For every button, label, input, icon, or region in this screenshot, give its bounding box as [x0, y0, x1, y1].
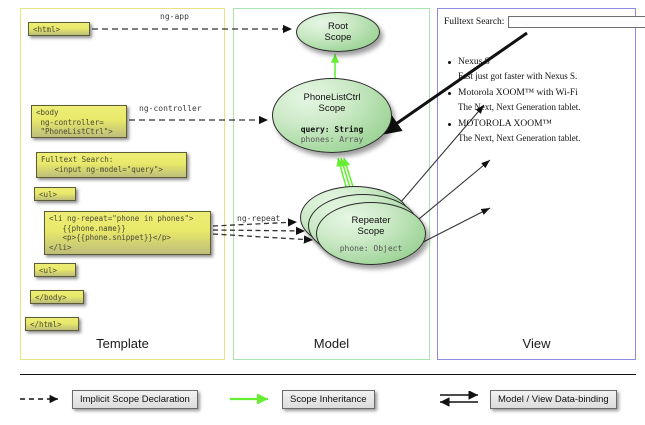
scope-phonelistctrl-title-1: PhoneListCtrl — [273, 92, 391, 103]
view-phone-list: Nexus S Fast just got faster with Nexus … — [444, 55, 632, 145]
list-item-snippet: Fast just got faster with Nexus S. — [444, 69, 632, 83]
panel-template: Template — [20, 8, 225, 360]
code-box-html-close: </html> — [25, 317, 79, 331]
list-item-snippet: The Next, Next Generation tablet. — [444, 100, 632, 114]
code-box-fulltext-input: Fulltext Search: <input ng-model="query"… — [36, 152, 187, 178]
code-box-ul-open: <ul> — [34, 187, 76, 201]
legend-entry-implicit-scope-declaration: Implicit Scope Declaration — [20, 382, 198, 416]
bullet-icon — [448, 61, 451, 64]
panel-view-label: View — [438, 336, 635, 351]
view-search-label: Fulltext Search: — [444, 17, 504, 27]
list-item-snippet: The Next, Next Generation tablet. — [444, 131, 632, 145]
dashed-arrow-icon — [20, 394, 66, 404]
view-search-input[interactable] — [508, 16, 645, 28]
list-item[interactable]: MOTOROLA XOOM™ The Next, Next Generation… — [444, 117, 632, 145]
legend-divider — [20, 374, 636, 375]
view-rendered-output: Fulltext Search: Nexus S Fast just got f… — [444, 16, 632, 148]
scope-phonelistctrl: PhoneListCtrl Scope query: String phones… — [272, 78, 392, 153]
list-item-name-text: MOTOROLA XOOM™ — [458, 119, 552, 129]
view-search-row: Fulltext Search: — [444, 16, 632, 28]
panel-template-label: Template — [21, 336, 224, 351]
scope-property-phone: phone: Object — [317, 244, 425, 254]
code-box-li-ng-repeat: <li ng-repeat="phone in phones"> {{phone… — [44, 211, 211, 255]
panel-model-label: Model — [234, 336, 429, 351]
code-box-html-open: <html> — [28, 22, 90, 36]
list-item-name-text: Motorola XOOM™ with Wi-Fi — [458, 88, 578, 98]
legend-label: Model / View Data-binding — [490, 390, 617, 409]
legend-entry-scope-inheritance: Scope Inheritance — [230, 382, 375, 416]
green-arrow-icon — [230, 394, 276, 404]
bullet-icon — [448, 123, 451, 126]
panel-model: Model — [233, 8, 430, 360]
scope-repeater-title-1: Repeater — [317, 215, 425, 226]
list-item-name-text: Nexus S — [458, 57, 490, 67]
scope-root: Root Scope — [296, 12, 380, 52]
legend-label: Implicit Scope Declaration — [72, 390, 198, 409]
code-box-body-open: <body ng-controller= "PhoneListCtrl"> — [31, 105, 127, 138]
list-item-name: MOTOROLA XOOM™ — [444, 117, 632, 131]
scope-property-phones: phones: Array — [273, 135, 391, 145]
scope-repeater-title-2: Scope — [317, 226, 425, 237]
double-arrow-icon — [438, 391, 484, 407]
legend: Implicit Scope Declaration Scope Inherit… — [20, 382, 636, 416]
edge-label-ng-repeat: ng-repeat — [237, 214, 280, 223]
diagram-canvas: Template Model View — [0, 0, 645, 425]
code-box-ul-close: <ul> — [34, 263, 76, 277]
scope-phonelistctrl-title-2: Scope — [273, 103, 391, 114]
scope-repeater: Repeater Scope phone: Object — [316, 202, 426, 265]
bullet-icon — [448, 92, 451, 95]
list-item-name: Motorola XOOM™ with Wi-Fi — [444, 86, 632, 100]
scope-root-title-2: Scope — [297, 32, 379, 43]
list-item[interactable]: Motorola XOOM™ with Wi-Fi The Next, Next… — [444, 86, 632, 114]
scope-property-query: query: String — [273, 125, 391, 135]
legend-entry-model-view-data-binding: Model / View Data-binding — [438, 382, 617, 416]
code-box-body-close: </body> — [30, 290, 84, 304]
legend-label: Scope Inheritance — [282, 390, 375, 409]
edge-label-ng-app: ng-app — [160, 12, 189, 21]
edge-label-ng-controller: ng-controller — [139, 104, 202, 113]
list-item[interactable]: Nexus S Fast just got faster with Nexus … — [444, 55, 632, 83]
scope-root-title-1: Root — [297, 21, 379, 32]
list-item-name: Nexus S — [444, 55, 632, 69]
